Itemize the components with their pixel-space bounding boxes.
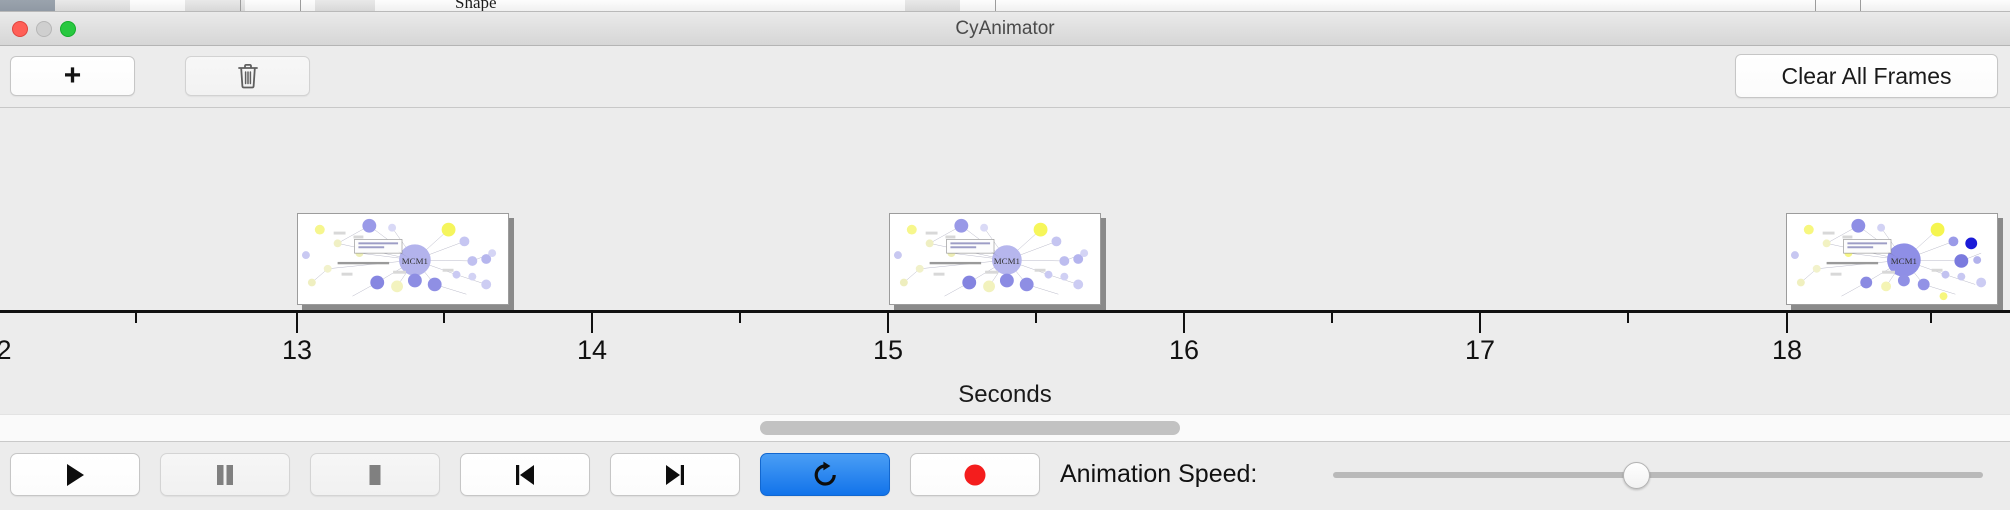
- pause-button[interactable]: [160, 453, 290, 496]
- axis-tick-label: 13: [282, 335, 312, 366]
- loop-button[interactable]: [760, 453, 890, 496]
- stop-button[interactable]: [310, 453, 440, 496]
- slider-knob[interactable]: [1623, 462, 1650, 489]
- axis-tick-minor: [135, 313, 137, 323]
- axis-tick-minor: [443, 313, 445, 323]
- axis-tick-major: [296, 313, 298, 333]
- axis-title: Seconds: [0, 381, 2010, 409]
- play-button[interactable]: [10, 453, 140, 496]
- play-icon: [63, 462, 87, 488]
- axis-tick-label: 2: [0, 335, 12, 366]
- axis-tick-label: 17: [1465, 335, 1495, 366]
- timeline-axis: 2 13 14 15 16 17 18 Seconds: [0, 109, 2010, 414]
- toolbar: + Clear All Frames: [0, 46, 2010, 108]
- pause-icon: [213, 462, 237, 488]
- axis-tick-major: [887, 313, 889, 333]
- loop-icon: [812, 461, 839, 489]
- axis-tick-major: [1479, 313, 1481, 333]
- plus-icon: +: [64, 61, 82, 91]
- skip-back-icon: [512, 462, 538, 488]
- delete-frame-button[interactable]: [185, 56, 310, 96]
- axis-tick-major: [1786, 313, 1788, 333]
- previous-frame-button[interactable]: [460, 453, 590, 496]
- background-window-label: Shape: [455, 0, 497, 12]
- window-title: CyAnimator: [0, 12, 2010, 46]
- slider-track[interactable]: [1333, 472, 1983, 478]
- add-frame-button[interactable]: +: [10, 56, 135, 96]
- axis-tick-minor: [1331, 313, 1333, 323]
- axis-tick-minor: [739, 313, 741, 323]
- axis-tick-minor: [1627, 313, 1629, 323]
- timeline-panel[interactable]: MCM1: [0, 109, 2010, 414]
- animation-speed-label: Animation Speed:: [1060, 453, 1257, 496]
- skip-forward-icon: [662, 462, 688, 488]
- axis-tick-label: 16: [1169, 335, 1199, 366]
- transport-bar: Animation Speed:: [0, 443, 2010, 510]
- stop-icon: [363, 462, 387, 488]
- animation-speed-slider[interactable]: [1333, 453, 1983, 496]
- title-bar[interactable]: CyAnimator: [0, 12, 2010, 46]
- record-icon: [962, 462, 988, 488]
- axis-tick-label: 15: [873, 335, 903, 366]
- clear-all-frames-label: Clear All Frames: [1782, 63, 1952, 90]
- timeline-horizontal-scrollbar[interactable]: [0, 414, 2010, 442]
- record-button[interactable]: [910, 453, 1040, 496]
- axis-tick-major: [591, 313, 593, 333]
- axis-tick-minor: [1035, 313, 1037, 323]
- axis-tick-minor: [1930, 313, 1932, 323]
- clear-all-frames-button[interactable]: Clear All Frames: [1735, 54, 1998, 98]
- next-frame-button[interactable]: [610, 453, 740, 496]
- axis-tick-label: 18: [1772, 335, 1802, 366]
- cyanimator-window: Shape CyAnimator + Clear All Frames: [0, 0, 2010, 510]
- axis-tick-major: [1183, 313, 1185, 333]
- scrollbar-thumb[interactable]: [760, 421, 1180, 435]
- axis-tick-label: 14: [577, 335, 607, 366]
- background-window-sliver: Shape: [0, 0, 2010, 12]
- axis-line: [0, 310, 2010, 313]
- trash-icon: [237, 63, 259, 89]
